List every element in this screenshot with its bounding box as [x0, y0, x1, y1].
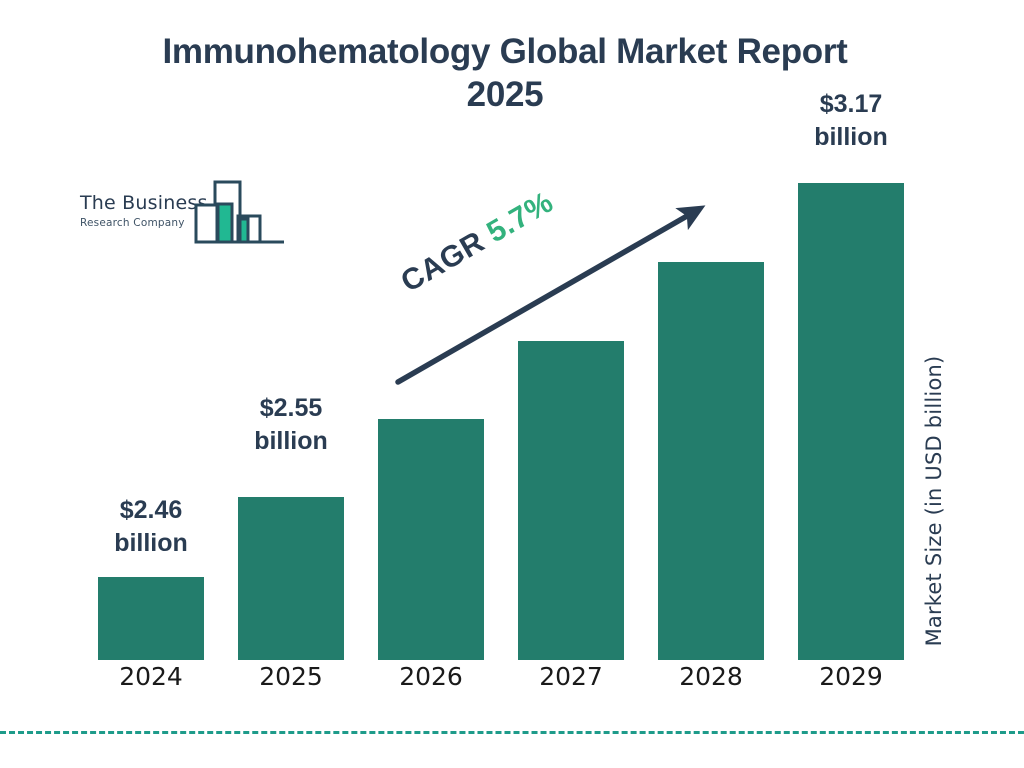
- value-label-2025: $2.55 billion: [221, 392, 361, 458]
- bar-2026: [378, 419, 484, 660]
- value-label-2029: $3.17 billion: [781, 88, 921, 154]
- x-tick-2027: 2027: [511, 662, 631, 691]
- value-label-2029-amount: $3.17: [781, 88, 921, 121]
- value-label-2024-unit: billion: [81, 527, 221, 560]
- footer-divider: [0, 731, 1024, 734]
- value-label-2025-amount: $2.55: [221, 392, 361, 425]
- x-tick-2024: 2024: [91, 662, 211, 691]
- x-tick-2026: 2026: [371, 662, 491, 691]
- value-label-2024-amount: $2.46: [81, 494, 221, 527]
- value-label-2029-unit: billion: [781, 121, 921, 154]
- x-tick-2025: 2025: [231, 662, 351, 691]
- value-label-2024: $2.46 billion: [81, 494, 221, 560]
- x-tick-2028: 2028: [651, 662, 771, 691]
- cagr-annotation: CAGR 5.7%: [396, 185, 560, 299]
- y-axis-title: Market Size (in USD billion): [916, 333, 952, 669]
- y-axis-title-text: Market Size (in USD billion): [916, 333, 952, 669]
- bar-2027: [518, 341, 624, 660]
- value-label-2025-unit: billion: [221, 425, 361, 458]
- bar-chart-plot: $2.46 billion $2.55 billion $3.17 billio…: [0, 0, 1024, 768]
- bar-2024: [98, 577, 204, 660]
- bar-2025: [238, 497, 344, 660]
- bar-2028: [658, 262, 764, 660]
- bar-2029: [798, 183, 904, 660]
- cagr-value: 5.7%: [481, 185, 558, 249]
- infographic-canvas: Immunohematology Global Market Report 20…: [0, 0, 1024, 768]
- x-tick-2029: 2029: [791, 662, 911, 691]
- cagr-label: CAGR: [396, 225, 491, 299]
